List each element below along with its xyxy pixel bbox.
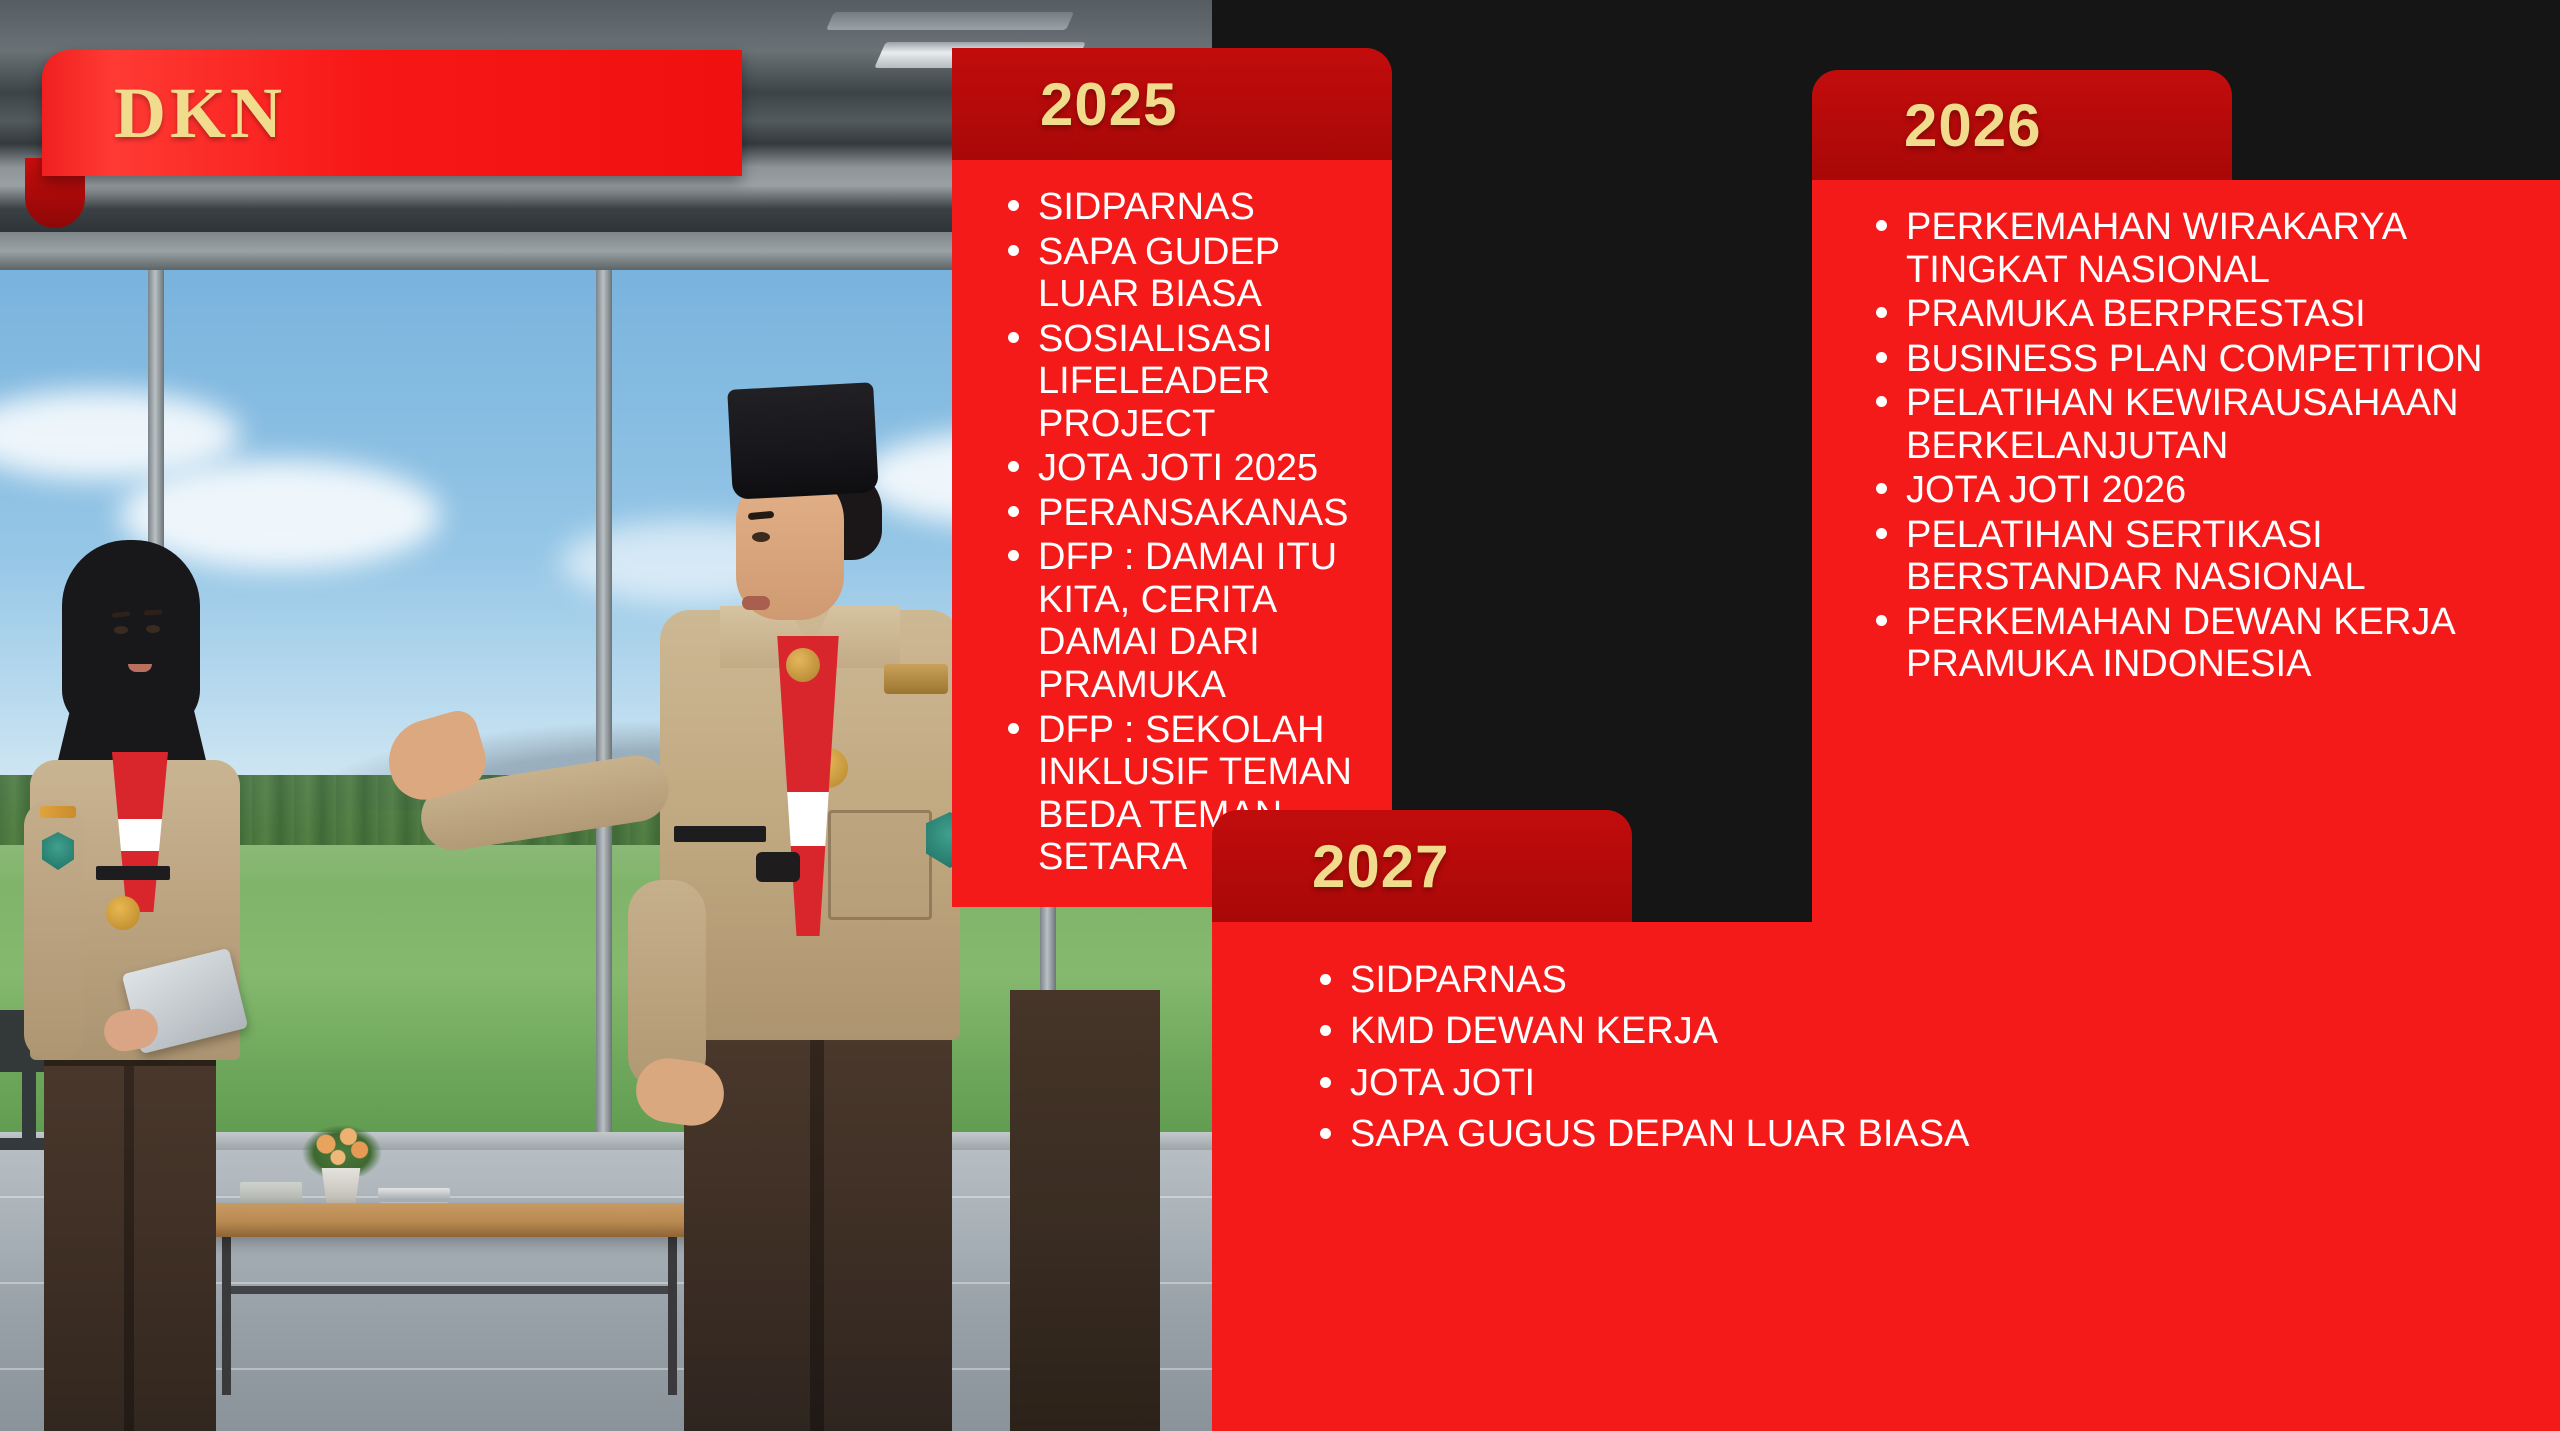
hijab: [62, 540, 200, 730]
list-item: DFP : DAMAI ITU KITA, CERITA DAMAI DARI …: [1004, 536, 1362, 706]
list-item: SIDPARNAS: [1316, 956, 2530, 1005]
year-tab-2025: 2025: [952, 48, 1392, 160]
list-item: SIDPARNAS: [1004, 186, 1362, 229]
list-item: PRAMUKA BERPRESTASI: [1872, 293, 2546, 336]
eye: [146, 625, 160, 633]
program-list-2025: SIDPARNAS SAPA GUDEP LUAR BIASA SOSIALIS…: [952, 160, 1392, 907]
trousers: [1010, 990, 1160, 1431]
books: [378, 1188, 450, 1200]
window-mullion: [596, 270, 612, 1150]
year-panel-2027: 2027 SIDPARNAS KMD DEWAN KERJA JOTA JOTI…: [1212, 810, 2560, 1431]
shirt-pocket: [828, 810, 932, 920]
eye: [114, 626, 128, 634]
list-item: JOTA JOTI 2026: [1872, 469, 2546, 512]
list-item: PELATIHAN SERTIKASI BERSTANDAR NASIONAL: [1872, 514, 2546, 599]
mouth: [742, 596, 770, 610]
shoulder-stripe: [40, 806, 76, 818]
wristwatch: [756, 852, 800, 882]
trousers: [44, 1050, 216, 1431]
coffee-table: [200, 1203, 701, 1237]
office-chair: [22, 1070, 36, 1140]
year-label-2025: 2025: [1040, 70, 1177, 139]
year-tab-2026: 2026: [1812, 70, 2232, 180]
eyebrow: [144, 610, 162, 616]
list-item: PERANSAKANAS: [1004, 492, 1362, 535]
list-item: KMD DEWAN KERJA: [1316, 1007, 2530, 1056]
list-item: SAPA GUDEP LUAR BIASA: [1004, 231, 1362, 316]
dkn-ribbon-banner: DKN: [42, 50, 742, 176]
name-tag: [96, 866, 170, 880]
potted-flowers: [302, 1118, 382, 1176]
coffee-table: [668, 1237, 677, 1395]
year-panel-2025: 2025 SIDPARNAS SAPA GUDEP LUAR BIASA SOS…: [952, 48, 1392, 907]
name-tag: [674, 826, 766, 842]
epaulet: [884, 664, 948, 694]
list-item: JOTA JOTI 2025: [1004, 447, 1362, 490]
dkn-label: DKN: [114, 72, 286, 155]
list-item: SOSIALISASI LIFELEADER PROJECT: [1004, 318, 1362, 446]
uniform-medal: [106, 896, 140, 930]
coffee-table: [222, 1237, 231, 1395]
list-item: BUSINESS PLAN COMPETITION: [1872, 338, 2546, 381]
year-tab-2027: 2027: [1212, 810, 1632, 922]
list-item: PERKEMAHAN WIRAKARYA TINGKAT NASIONAL: [1872, 206, 2546, 291]
eye: [752, 532, 770, 542]
list-item: PELATIHAN KEWIRAUSAHAAN BERKELANJUTAN: [1872, 382, 2546, 467]
list-item: SAPA GUGUS DEPAN LUAR BIASA: [1316, 1110, 2530, 1159]
peci-cap: [727, 382, 879, 499]
ceiling-light-icon: [826, 12, 1074, 30]
program-list-2027: SIDPARNAS KMD DEWAN KERJA JOTA JOTI SAPA…: [1212, 922, 2560, 1431]
coffee-table: [228, 1286, 676, 1294]
list-item: PERKEMAHAN DEWAN KERJA PRAMUKA INDONESIA: [1872, 601, 2546, 686]
trousers: [684, 986, 952, 1431]
neckerchief-ring: [786, 648, 820, 682]
year-label-2026: 2026: [1904, 91, 2041, 160]
year-label-2027: 2027: [1312, 832, 1449, 901]
list-item: JOTA JOTI: [1316, 1059, 2530, 1108]
